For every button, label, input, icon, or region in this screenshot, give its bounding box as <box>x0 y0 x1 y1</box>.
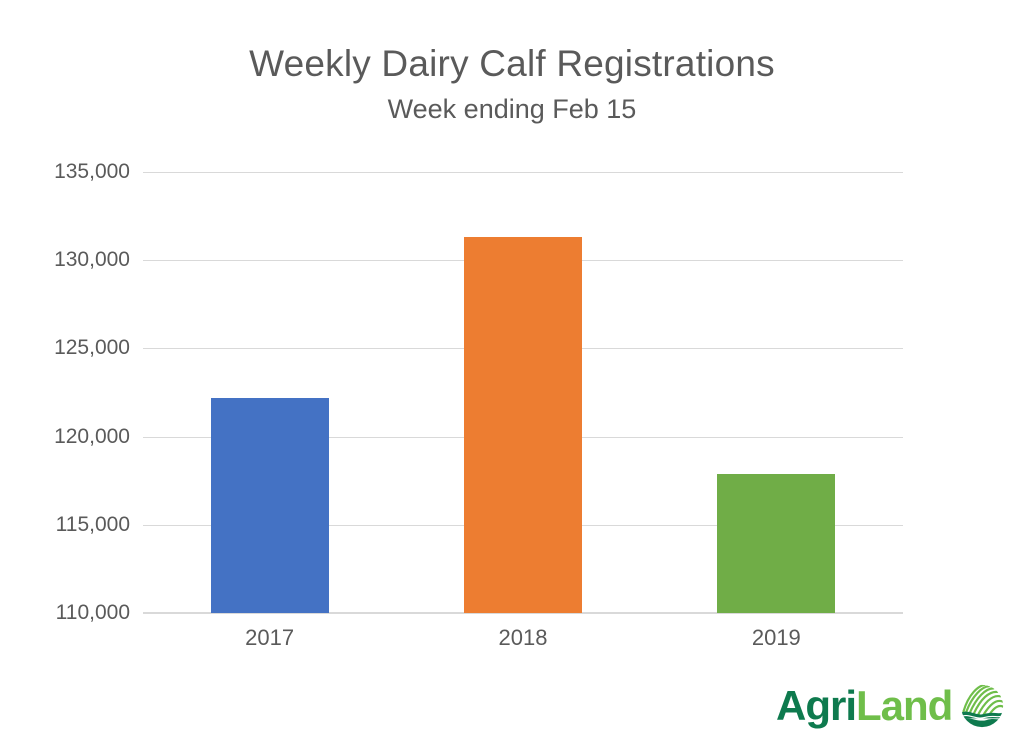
y-axis-tick-label: 115,000 <box>15 513 130 537</box>
agriland-field-circle-icon <box>960 684 1004 728</box>
y-axis: 135,000130,000125,000120,000115,000110,0… <box>10 172 130 613</box>
y-axis-tick-label: 130,000 <box>15 248 130 272</box>
bar-2018[interactable] <box>464 237 582 613</box>
x-axis-tick-label-2018: 2018 <box>499 625 548 651</box>
y-axis-tick-label: 125,000 <box>15 336 130 360</box>
y-axis-tick-label: 120,000 <box>15 425 130 449</box>
y-axis-tick-label: 110,000 <box>15 601 130 625</box>
logo-word-land: Land <box>856 685 952 727</box>
x-axis-tick-label-2019: 2019 <box>752 625 801 651</box>
x-axis: 201720182019 <box>143 625 903 665</box>
y-axis-tick-label: 135,000 <box>15 160 130 184</box>
x-axis-tick-label-2017: 2017 <box>245 625 294 651</box>
chart-title: Weekly Dairy Calf Registrations <box>0 44 1024 85</box>
logo-word-agri: Agri <box>776 685 856 727</box>
bar-2019[interactable] <box>717 474 835 613</box>
gridline <box>143 172 903 173</box>
chart-container: Weekly Dairy Calf Registrations Week end… <box>0 0 1024 753</box>
bar-2017[interactable] <box>211 398 329 613</box>
plot-area <box>143 172 903 613</box>
agriland-logo: AgriLand <box>776 681 1004 731</box>
chart-subtitle: Week ending Feb 15 <box>0 95 1024 125</box>
